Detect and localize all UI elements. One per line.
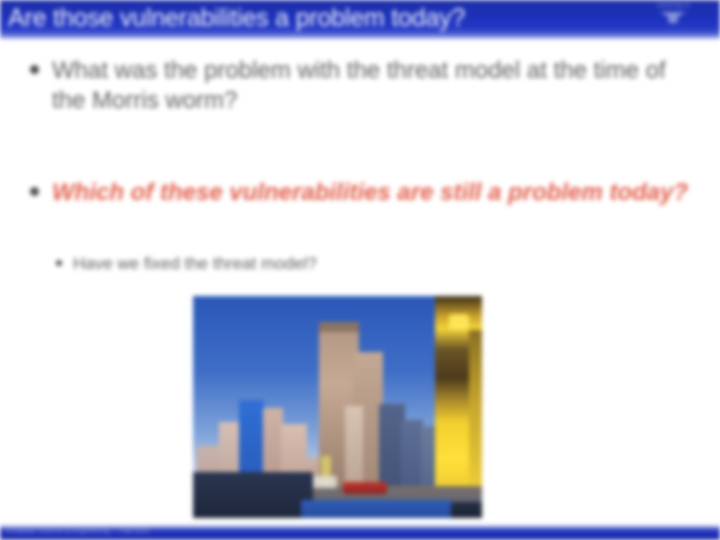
footer-text: Computer Science & Engineering — Fall 20… [6, 527, 149, 537]
sub-bullet-dot-icon [56, 260, 62, 266]
logo-mark-icon [660, 12, 686, 23]
bullet-text-3: Have we fixed the threat model? [73, 253, 317, 275]
foreground-water [301, 500, 451, 518]
bullet-dot-icon [30, 187, 39, 196]
foreground-dark-mass [193, 472, 313, 518]
foreground-red-vehicle [343, 482, 387, 494]
gold-tower-side [469, 330, 482, 500]
slide-title-bar: Are those vulnerabilities a problem toda… [0, 0, 720, 40]
bullet-text-2-emphasis: Which of these vulnerabilities are still… [52, 178, 688, 208]
gold-tower-highlight [449, 314, 469, 330]
bullet-item-3-sub: Have we fixed the threat model? [56, 253, 696, 275]
slide-title: Are those vulnerabilities a problem toda… [8, 2, 608, 34]
slide-footer-bar: Computer Science & Engineering — Fall 20… [0, 524, 720, 540]
bullet-text-1: What was the problem with the threat mod… [52, 56, 692, 116]
city-skyline-photo [193, 296, 482, 518]
bullet-item-2: Which of these vulnerabilities are still… [30, 178, 692, 208]
bullet-dot-icon [30, 65, 39, 74]
central-tower-cap [319, 322, 359, 332]
bullet-item-1: What was the problem with the threat mod… [30, 56, 692, 116]
logo-line-top: University of [656, 3, 689, 9]
presentation-slide: Are those vulnerabilities a problem toda… [0, 0, 720, 540]
university-logo: University of [642, 2, 704, 32]
